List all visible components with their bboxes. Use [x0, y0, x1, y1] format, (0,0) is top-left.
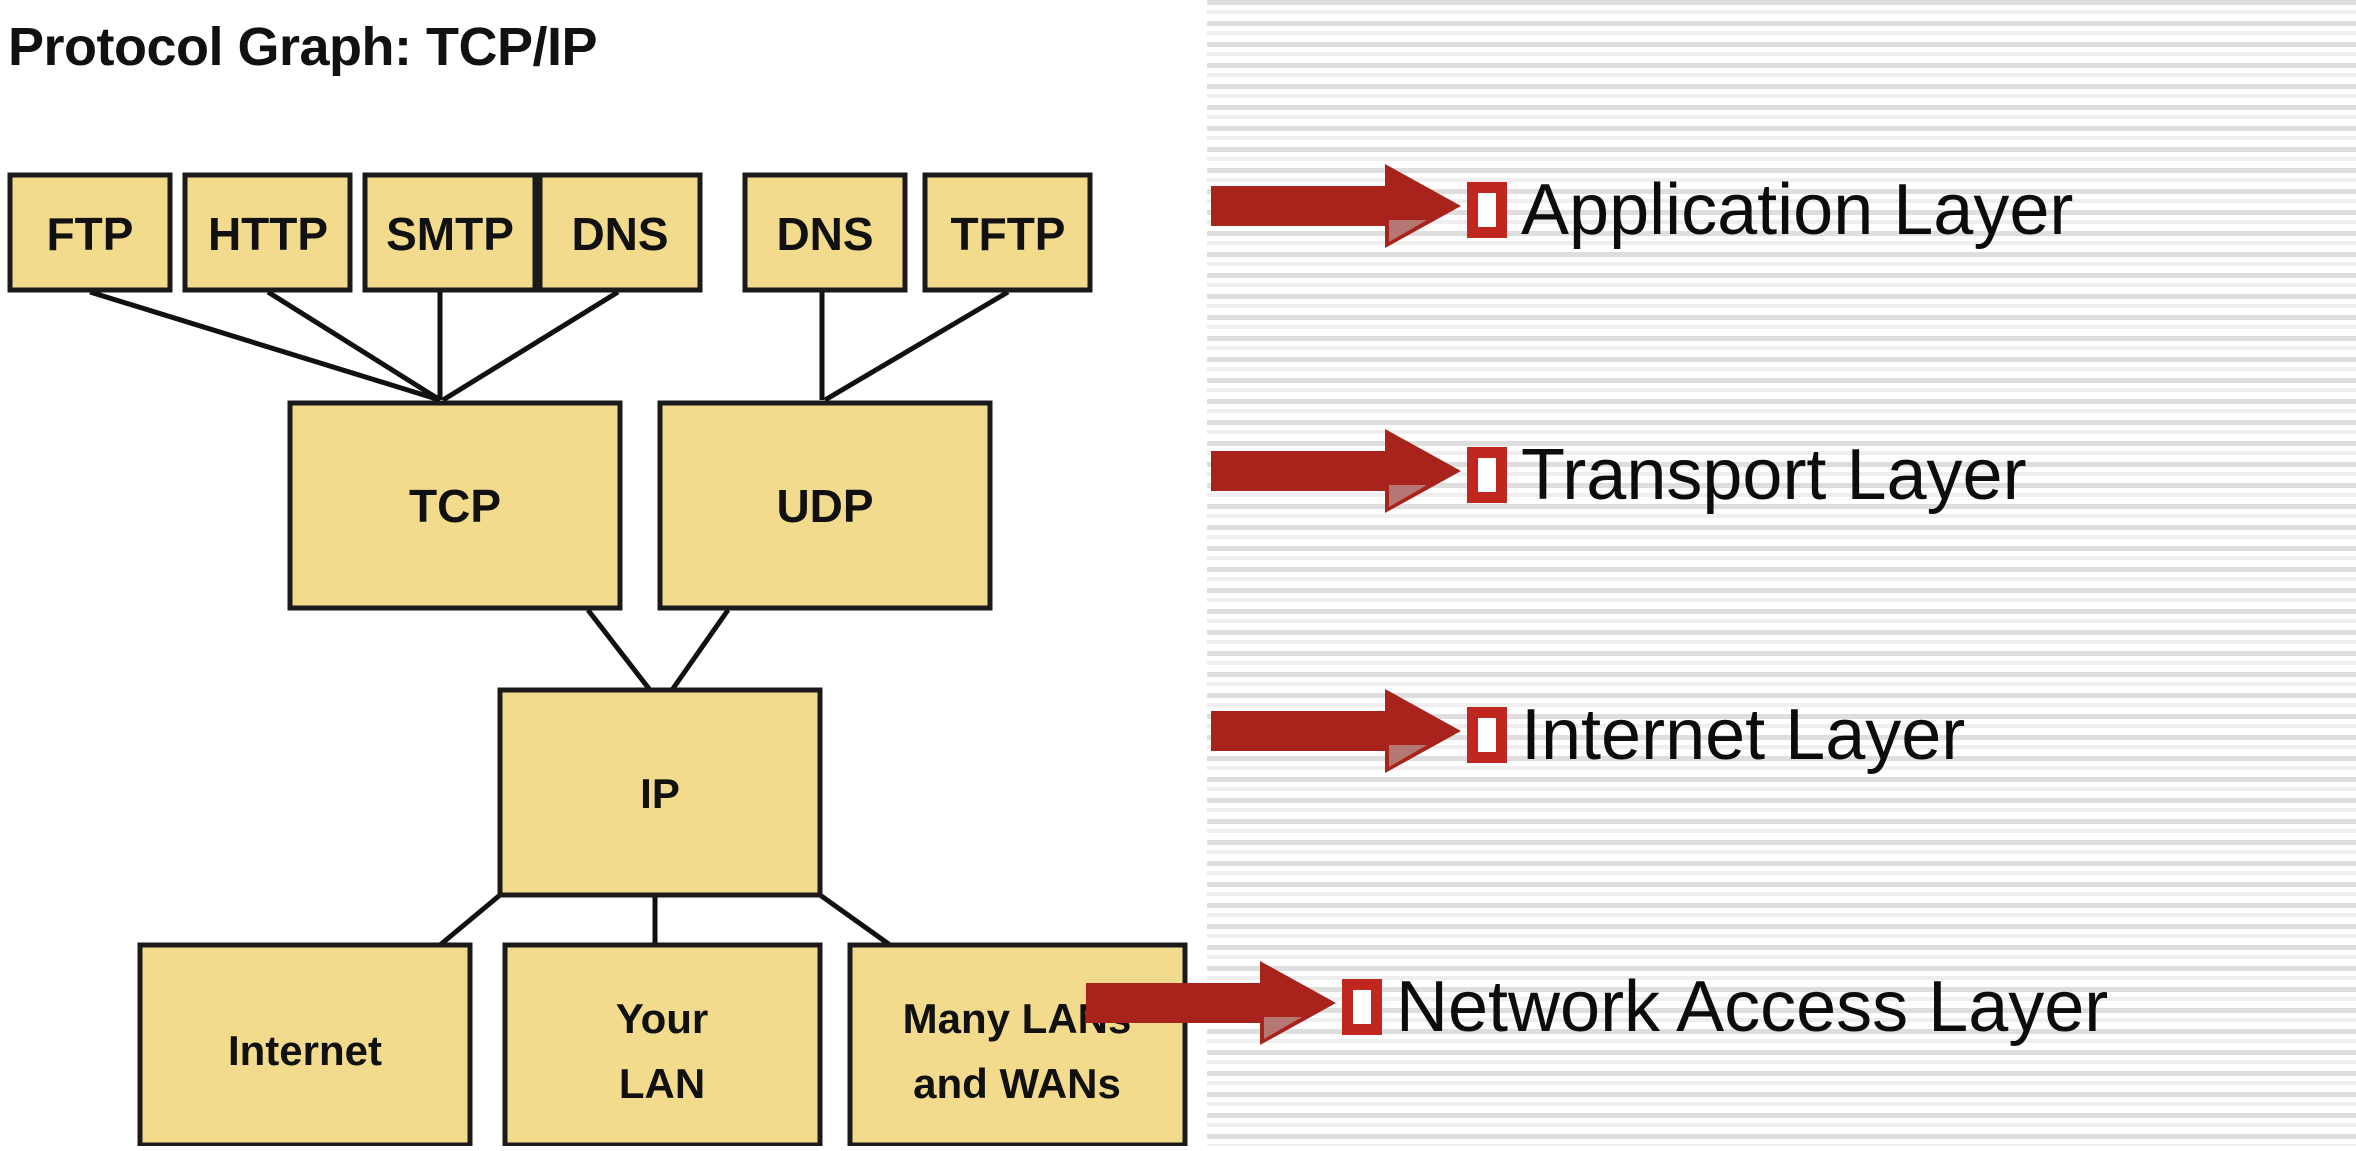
- right-arrow-icon: [1207, 675, 1467, 795]
- box-dns-udp[interactable]: DNS: [745, 175, 905, 290]
- bullet-label-application-layer: Application Layer: [1521, 174, 2073, 246]
- box-smtp[interactable]: SMTP: [365, 175, 535, 290]
- edges-transport-to-internet: [588, 610, 728, 690]
- box-ip[interactable]: IP: [500, 690, 820, 895]
- bullet-label-network-access-layer: Network Access Layer: [1396, 971, 2108, 1043]
- box-your-lan-label-line1: Your: [616, 995, 709, 1042]
- bullet-square-icon: [1467, 447, 1507, 503]
- bullet-label-internet-layer: Internet Layer: [1521, 699, 1965, 771]
- box-dns-tcp[interactable]: DNS: [540, 175, 700, 290]
- bullet-square-icon: [1342, 979, 1382, 1035]
- box-tftp-label: TFTP: [951, 208, 1066, 260]
- right-arrow-icon: [1207, 150, 1467, 270]
- internet-layer-boxes: IP: [500, 690, 820, 895]
- box-ip-label: IP: [640, 770, 680, 817]
- bullet-row-transport-layer[interactable]: Transport Layer: [1207, 415, 2027, 535]
- box-ftp[interactable]: FTP: [10, 175, 170, 290]
- right-arrow-icon: [1082, 947, 1342, 1067]
- bullet-row-internet-layer[interactable]: Internet Layer: [1207, 675, 1965, 795]
- edge-ip-internet: [440, 895, 500, 945]
- protocol-graph-diagram: .boxrect { fill: #f2db8d; stroke: #1a1a1…: [0, 0, 1207, 1146]
- bullet-row-network-access-layer[interactable]: Network Access Layer: [1082, 947, 2108, 1067]
- box-http-label: HTTP: [208, 208, 328, 260]
- edge-ip-lans-wans: [820, 895, 890, 945]
- bullet-square-icon: [1467, 182, 1507, 238]
- box-dns-tcp-label: DNS: [571, 208, 668, 260]
- edge-http-tcp: [268, 292, 440, 400]
- edges-internet-to-network-access: [440, 895, 890, 945]
- box-internet[interactable]: Internet: [140, 945, 470, 1145]
- box-tcp-label: TCP: [409, 480, 501, 532]
- box-dns-udp-label: DNS: [776, 208, 873, 260]
- layer-bullet-list: Application Layer Transport Layer Intern…: [1207, 0, 2356, 1146]
- edges-application-to-transport: [90, 292, 1008, 400]
- box-internet-label: Internet: [228, 1027, 382, 1074]
- box-lans-wans-label-line2: and WANs: [913, 1060, 1121, 1107]
- edge-ftp-tcp: [90, 292, 440, 400]
- box-ftp-label: FTP: [47, 208, 134, 260]
- slide-canvas: .boxrect { fill: #f2db8d; stroke: #1a1a1…: [0, 0, 2356, 1146]
- box-udp-label: UDP: [776, 480, 873, 532]
- protocol-graph-svg: .boxrect { fill: #f2db8d; stroke: #1a1a1…: [0, 0, 1207, 1146]
- right-arrow-icon: [1207, 415, 1467, 535]
- bullet-label-transport-layer: Transport Layer: [1521, 439, 2027, 511]
- box-http[interactable]: HTTP: [185, 175, 350, 290]
- box-tcp[interactable]: TCP: [290, 403, 620, 608]
- box-udp[interactable]: UDP: [660, 403, 990, 608]
- box-tftp[interactable]: TFTP: [925, 175, 1090, 290]
- edge-dns1-tcp: [443, 292, 618, 400]
- box-your-lan[interactable]: Your LAN: [505, 945, 820, 1145]
- transport-layer-boxes: TCP UDP: [290, 403, 990, 608]
- box-smtp-label: SMTP: [386, 208, 514, 260]
- page-title: Protocol Graph: TCP/IP: [8, 16, 597, 78]
- application-layer-boxes: FTP HTTP SMTP DNS DNS: [10, 175, 1090, 290]
- bullet-row-application-layer[interactable]: Application Layer: [1207, 150, 2073, 270]
- box-your-lan-label-line2: LAN: [619, 1060, 705, 1107]
- edge-tftp-udp: [825, 292, 1008, 400]
- edge-udp-ip: [672, 610, 728, 690]
- edge-tcp-ip: [588, 610, 650, 690]
- network-access-layer-boxes: Internet Your LAN Many LANs and WANs: [140, 945, 1185, 1145]
- bullet-square-icon: [1467, 707, 1507, 763]
